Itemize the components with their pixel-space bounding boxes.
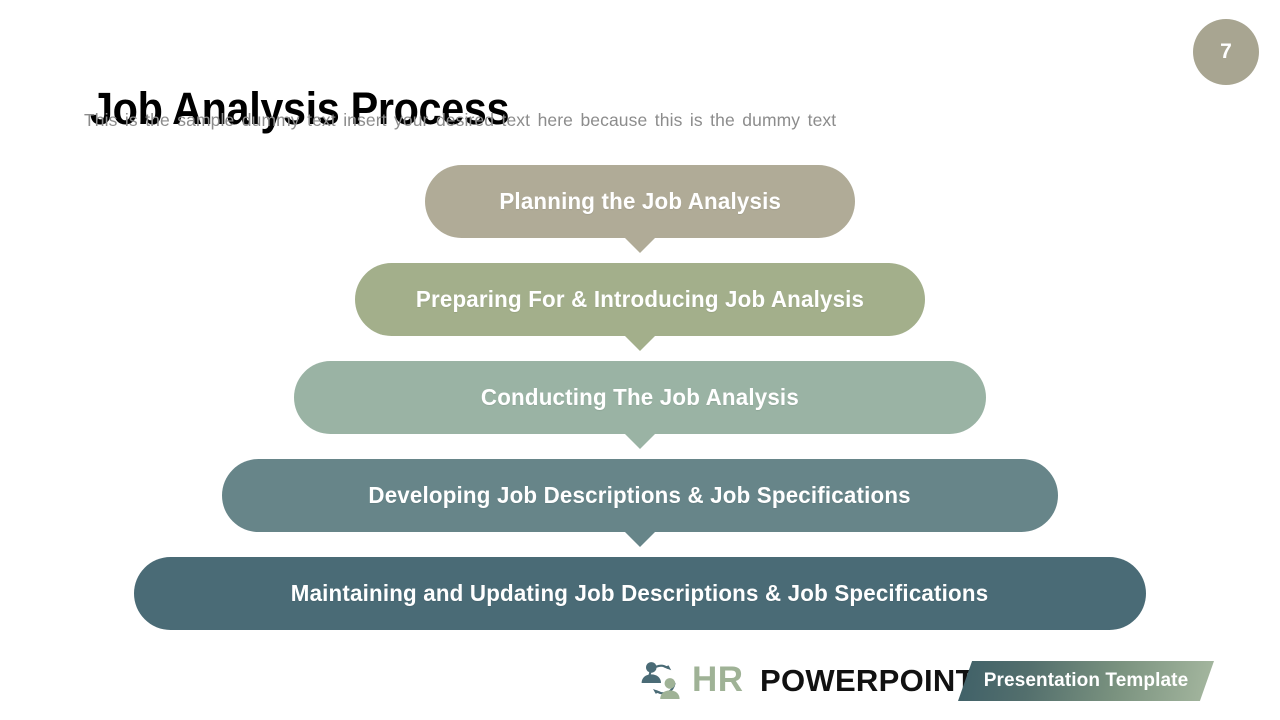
funnel-connector-arrow-icon: [624, 237, 656, 253]
funnel-step-label: Maintaining and Updating Job Description…: [291, 580, 989, 607]
funnel-step-label: Preparing For & Introducing Job Analysis: [416, 286, 864, 313]
brand-hr-text: HR: [692, 658, 744, 702]
page-subtitle: This is the sample dummy text insert you…: [84, 110, 836, 131]
funnel-step-5[interactable]: Maintaining and Updating Job Description…: [134, 557, 1146, 630]
footer-branding: HR POWERPOINT Presentation Template: [636, 655, 1226, 707]
funnel-step-shape: Maintaining and Updating Job Description…: [134, 557, 1146, 630]
funnel-connector-arrow-icon: [624, 433, 656, 449]
funnel-connector-arrow-icon: [624, 335, 656, 351]
funnel-step-shape: Conducting The Job Analysis: [294, 361, 986, 434]
funnel-step-label: Developing Job Descriptions & Job Specif…: [369, 482, 911, 509]
funnel-step-4[interactable]: Developing Job Descriptions & Job Specif…: [222, 459, 1058, 532]
funnel-step-shape: Preparing For & Introducing Job Analysis: [355, 263, 925, 336]
funnel-step-shape: Developing Job Descriptions & Job Specif…: [222, 459, 1058, 532]
slide-canvas: Job Analysis Process This is the sample …: [0, 0, 1280, 720]
funnel-step-1[interactable]: Planning the Job Analysis: [425, 165, 855, 238]
funnel-step-3[interactable]: Conducting The Job Analysis: [294, 361, 986, 434]
funnel-step-label: Conducting The Job Analysis: [481, 384, 799, 411]
page-number-badge: 7: [1193, 19, 1259, 85]
hr-people-cycle-icon: [638, 658, 686, 704]
funnel-step-label: Planning the Job Analysis: [499, 188, 781, 215]
presentation-template-banner: Presentation Template: [958, 661, 1214, 701]
funnel-connector-arrow-icon: [624, 531, 656, 547]
funnel-step-2[interactable]: Preparing For & Introducing Job Analysis: [355, 263, 925, 336]
page-number-value: 7: [1220, 40, 1232, 64]
presentation-template-label: Presentation Template: [984, 670, 1188, 692]
brand-powerpoint-text: POWERPOINT: [760, 658, 975, 704]
funnel-step-shape: Planning the Job Analysis: [425, 165, 855, 238]
